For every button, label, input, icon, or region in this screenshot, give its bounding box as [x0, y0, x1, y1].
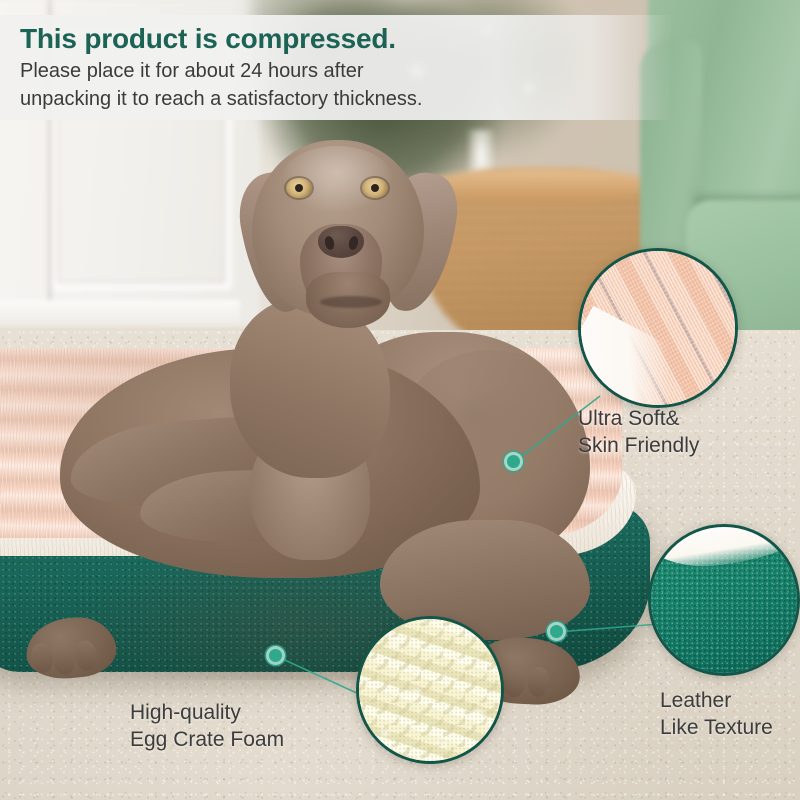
callout-bubble-leather[interactable] [648, 524, 800, 676]
callout-label-leather: Leather Like Texture [660, 688, 773, 742]
anchor-dot-leather[interactable] [550, 625, 563, 638]
paw-toe [503, 667, 527, 698]
banner-subtitle-line2: unpacking it to reach a satisfactory thi… [20, 86, 672, 112]
dog-lip-line [320, 296, 382, 308]
callout-label-egg-crate-foam: High-quality Egg Crate Foam [130, 700, 284, 754]
callout-bubble-ultra-soft[interactable] [578, 248, 738, 408]
product-feature-image: Ultra Soft& Skin Friendly Leather Like T… [0, 0, 800, 800]
callout-label-line2: Skin Friendly [578, 433, 699, 460]
paw-toe [29, 642, 54, 674]
foam-grain [359, 619, 501, 761]
anchor-dot-ultra-soft[interactable] [507, 455, 520, 468]
callout-label-line1: Leather [660, 688, 773, 715]
weimaraner-dog [0, 120, 620, 640]
paw-toe [73, 639, 98, 671]
callout-label-line2: Like Texture [660, 715, 773, 742]
callout-label-line1: Ultra Soft& [578, 406, 699, 433]
callout-bubble-egg-crate-foam[interactable] [356, 616, 504, 764]
paw-toe [52, 644, 77, 676]
dog-eye-left [286, 178, 312, 198]
paw-toe [527, 666, 551, 697]
callout-label-line1: High-quality [130, 700, 284, 727]
banner-subtitle-line1: Please place it for about 24 hours after [20, 58, 672, 84]
compression-notice-banner: This product is compressed. Please place… [0, 15, 672, 120]
callout-label-ultra-soft: Ultra Soft& Skin Friendly [578, 406, 699, 460]
dog-eye-right [362, 178, 388, 198]
anchor-dot-foam[interactable] [269, 649, 282, 662]
banner-title: This product is compressed. [20, 21, 672, 56]
callout-label-line2: Egg Crate Foam [130, 727, 284, 754]
